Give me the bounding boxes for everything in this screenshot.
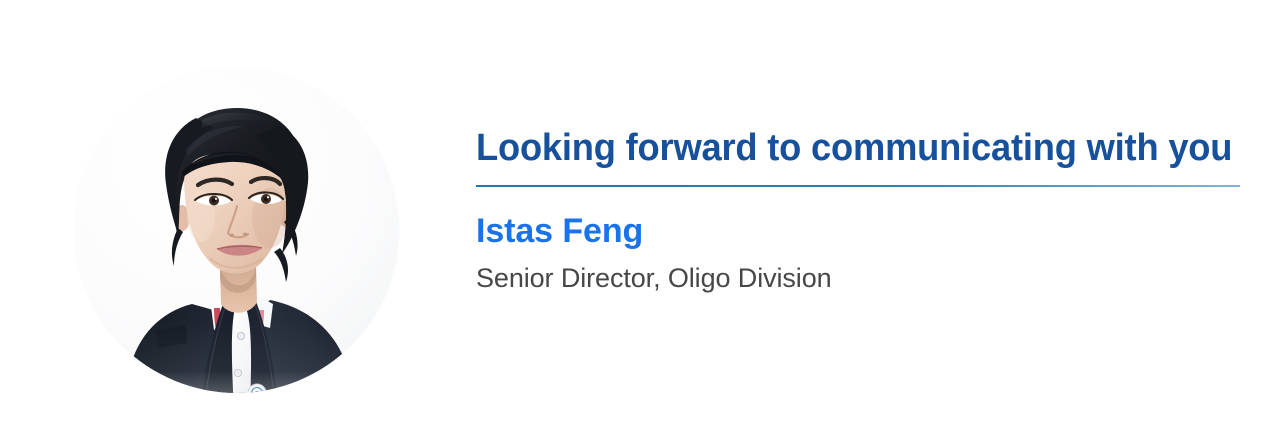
headline: Looking forward to communicating with yo… <box>476 125 1211 171</box>
person-job-title: Senior Director, Oligo Division <box>476 261 1246 295</box>
portrait-figure <box>74 68 399 393</box>
contact-card: Looking forward to communicating with yo… <box>0 0 1280 435</box>
headline-divider <box>476 185 1240 187</box>
person-name: Istas Feng <box>476 211 1246 251</box>
text-block: Looking forward to communicating with yo… <box>476 125 1246 295</box>
portrait-circle-frame <box>74 68 399 393</box>
portrait-photo <box>74 68 399 393</box>
